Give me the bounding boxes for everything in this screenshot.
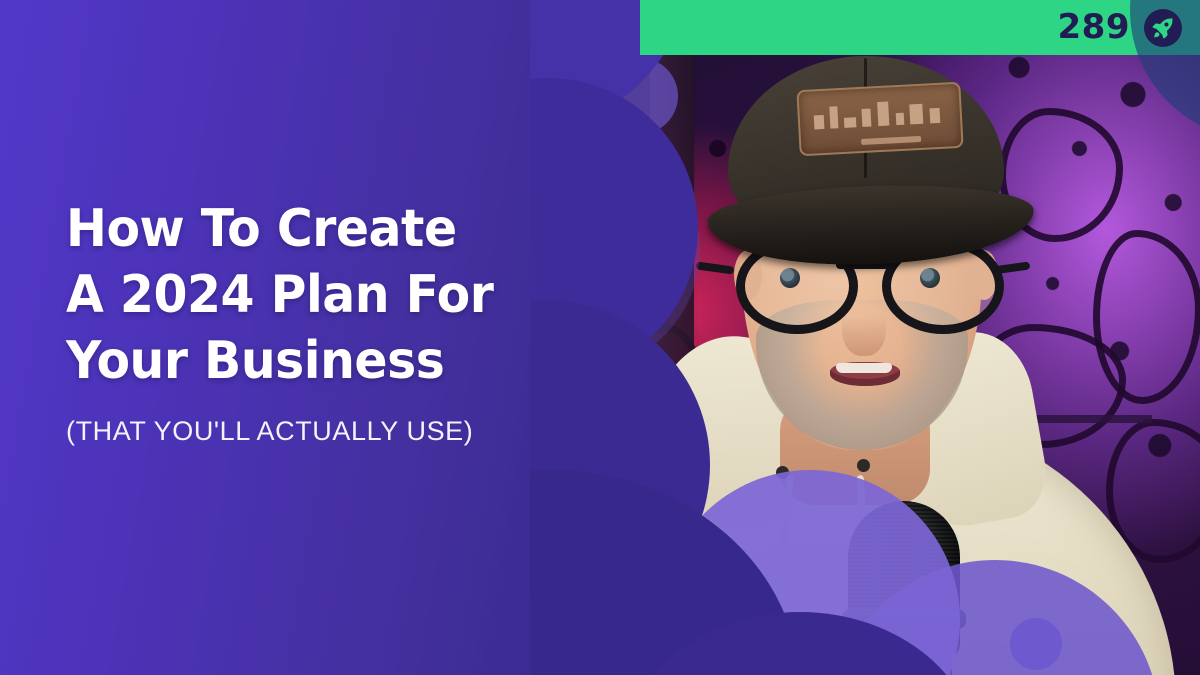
- teeth: [836, 363, 892, 373]
- subtitle: (THAT YOU'LL ACTUALLY USE): [66, 416, 536, 447]
- thumbnail-canvas: 289 How To Create A 2024 Plan For Your B…: [0, 0, 1200, 675]
- eye-left: [780, 268, 800, 288]
- rocket-icon: [1144, 9, 1182, 47]
- episode-header-bar: 289: [640, 0, 1200, 55]
- title-line-2: A 2024 Plan For: [66, 262, 508, 328]
- episode-badge: 289: [1058, 0, 1182, 55]
- hoodie-eyelet-right: [857, 459, 870, 472]
- cap-leather-patch: [796, 82, 963, 156]
- episode-number: 289: [1058, 10, 1130, 44]
- title-line-3: Your Business: [66, 328, 508, 394]
- glasses-temple-left: [696, 261, 735, 274]
- patch-skyline-graphic: [809, 96, 950, 129]
- decorative-circle: [1010, 618, 1062, 670]
- page-title: How To Create A 2024 Plan For Your Busin…: [66, 196, 508, 394]
- eye-right: [920, 268, 940, 288]
- patch-wordmark: [861, 136, 921, 145]
- title-line-1: How To Create: [66, 196, 508, 262]
- title-block: How To Create A 2024 Plan For Your Busin…: [66, 196, 536, 447]
